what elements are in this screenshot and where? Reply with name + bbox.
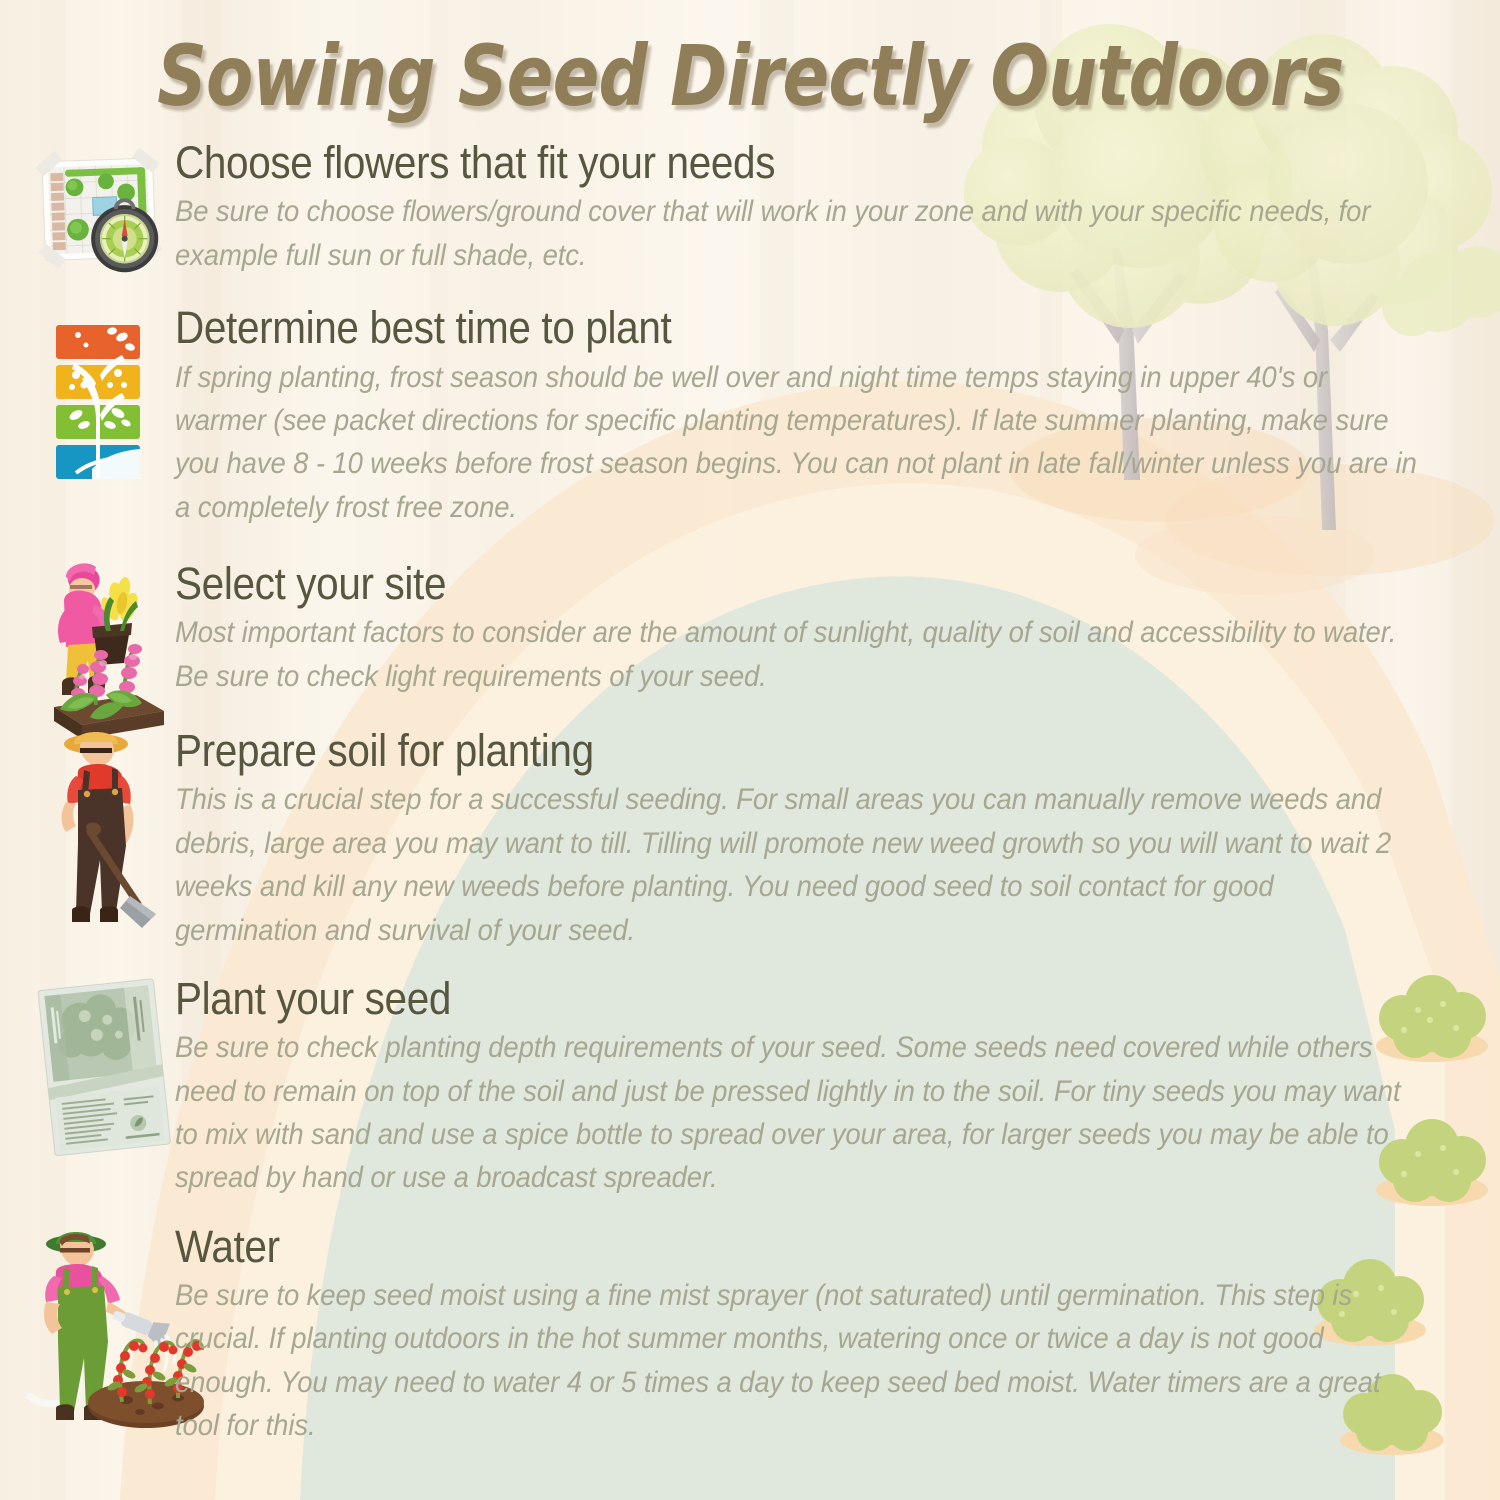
step-select-site: Select your site Most important factors … <box>0 559 1500 698</box>
title-block: Sowing Seed Directly Outdoors <box>0 34 1500 120</box>
step-heading: Select your site <box>175 559 1297 609</box>
step-heading: Choose flowers that fit your needs <box>175 138 1297 188</box>
step-heading: Plant your seed <box>175 974 1297 1024</box>
step-body: Most important factors to consider are t… <box>175 611 1422 698</box>
step-determine-time: Determine best time to plant If spring p… <box>0 303 1500 529</box>
step-body: Be sure to choose flowers/ground cover t… <box>175 190 1422 277</box>
four-seasons-tree-icon <box>52 323 144 483</box>
step-heading: Prepare soil for planting <box>175 726 1297 776</box>
page-title: Sowing Seed Directly Outdoors <box>157 34 1343 120</box>
steps-list: Choose flowers that fit your needs Be su… <box>0 138 1500 1448</box>
step-heading: Water <box>175 1222 1297 1272</box>
infographic-poster: Sowing Seed Directly Outdoors <box>0 0 1500 1500</box>
gardener-with-shovel-icon <box>38 720 166 930</box>
garden-plan-compass-icon <box>28 142 176 290</box>
step-heading: Determine best time to plant <box>175 303 1297 353</box>
step-prepare-soil: Prepare soil for planting This is a cruc… <box>0 726 1500 952</box>
step-body: Be sure to keep seed moist using a fine … <box>175 1274 1422 1447</box>
seed-packet-icon <box>32 970 182 1160</box>
gardener-with-potted-plant-icon <box>32 545 174 745</box>
step-plant-seed: Plant your seed Be sure to check plantin… <box>0 974 1500 1200</box>
step-body: If spring planting, frost season should … <box>175 356 1422 529</box>
step-body: Be sure to check planting depth requirem… <box>175 1026 1422 1199</box>
step-choose-flowers: Choose flowers that fit your needs Be su… <box>0 138 1500 277</box>
step-body: This is a crucial step for a successful … <box>175 778 1422 951</box>
step-water: Water Be sure to keep seed moist using a… <box>0 1222 1500 1448</box>
